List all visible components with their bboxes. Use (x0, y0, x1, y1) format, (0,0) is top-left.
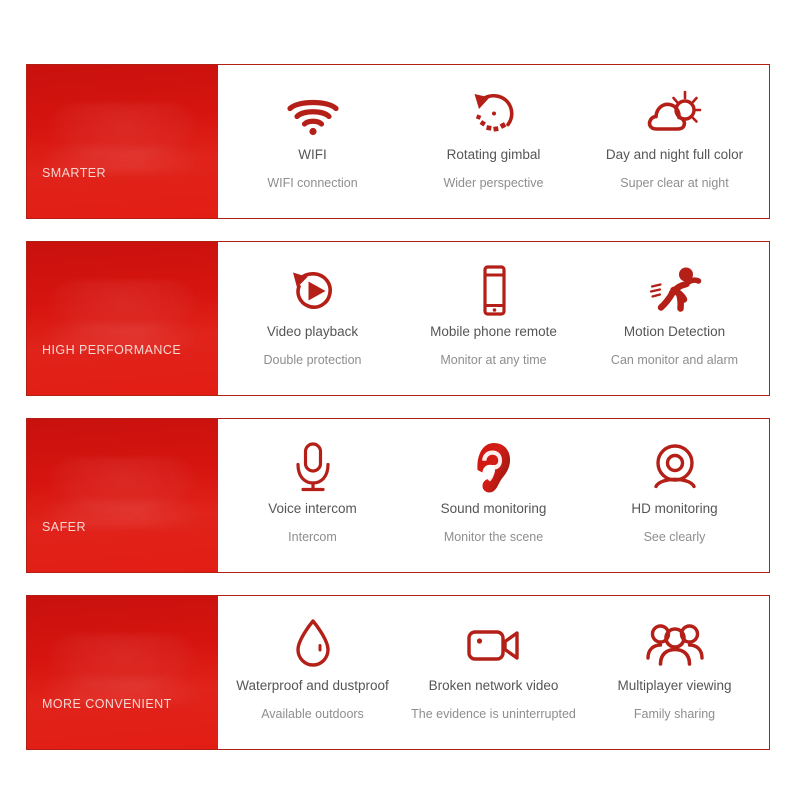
feature-item[interactable]: Sound monitoring Monitor the scene (403, 419, 584, 572)
banner-label: SAFER (27, 520, 218, 572)
feature-card: SMARTER WIFI WIFI connection (26, 64, 770, 219)
card-banner: MORE CONVENIENT (27, 596, 218, 749)
feature-subtitle: Monitor the scene (444, 530, 543, 545)
rotating-gimbal-icon (467, 85, 521, 143)
feature-title: HD monitoring (631, 501, 717, 517)
feature-title: Multiplayer viewing (617, 678, 731, 694)
video-playback-icon (287, 262, 339, 320)
feature-subtitle: WIFI connection (267, 176, 357, 191)
group-people-icon (644, 616, 706, 674)
feature-item[interactable]: Day and night full color Super clear at … (584, 65, 765, 218)
feature-subtitle: The evidence is uninterrupted (411, 707, 576, 722)
motion-detection-icon (646, 262, 704, 320)
banner-label: HIGH PERFORMANCE (27, 343, 218, 395)
feature-title: Voice intercom (268, 501, 357, 517)
feature-subtitle: Wider perspective (443, 176, 543, 191)
video-camera-icon (465, 616, 523, 674)
feature-subtitle: Can monitor and alarm (611, 353, 738, 368)
feature-subtitle: Super clear at night (620, 176, 728, 191)
feature-item[interactable]: WIFI WIFI connection (222, 65, 403, 218)
feature-title: Mobile phone remote (430, 324, 557, 340)
wifi-icon (284, 85, 342, 143)
feature-subtitle: See clearly (644, 530, 706, 545)
card-features: WIFI WIFI connection Rota (218, 65, 769, 218)
card-banner: HIGH PERFORMANCE (27, 242, 218, 395)
card-banner: SAFER (27, 419, 218, 572)
microphone-icon (290, 439, 336, 497)
feature-card: HIGH PERFORMANCE Video playback Double p… (26, 241, 770, 396)
feature-subtitle: Double protection (264, 353, 362, 368)
feature-card: MORE CONVENIENT Waterproof and dustproof… (26, 595, 770, 750)
feature-title: Rotating gimbal (447, 147, 541, 163)
feature-title: Broken network video (429, 678, 559, 694)
feature-title: Waterproof and dustproof (236, 678, 389, 694)
feature-title: Sound monitoring (441, 501, 547, 517)
card-features: Video playback Double protection Mobile … (218, 242, 769, 395)
feature-title: Motion Detection (624, 324, 725, 340)
feature-title: Day and night full color (606, 147, 743, 163)
feature-item[interactable]: Motion Detection Can monitor and alarm (584, 242, 765, 395)
water-drop-icon (291, 616, 335, 674)
feature-grid-page: SMARTER WIFI WIFI connection (0, 0, 800, 800)
feature-card: SAFER Voice intercom Intercom (26, 418, 770, 573)
card-features: Waterproof and dustproof Available outdo… (218, 596, 769, 749)
feature-item[interactable]: Multiplayer viewing Family sharing (584, 596, 765, 749)
feature-item[interactable]: Rotating gimbal Wider perspective (403, 65, 584, 218)
day-night-icon (644, 85, 706, 143)
card-banner: SMARTER (27, 65, 218, 218)
feature-item[interactable]: HD monitoring See clearly (584, 419, 765, 572)
banner-label: MORE CONVENIENT (27, 697, 218, 749)
feature-item[interactable]: Voice intercom Intercom (222, 419, 403, 572)
feature-title: Video playback (267, 324, 358, 340)
feature-subtitle: Monitor at any time (440, 353, 546, 368)
feature-item[interactable]: Waterproof and dustproof Available outdo… (222, 596, 403, 749)
feature-item[interactable]: Mobile phone remote Monitor at any time (403, 242, 584, 395)
feature-subtitle: Family sharing (634, 707, 715, 722)
ear-icon (472, 439, 516, 497)
webcam-icon (648, 439, 702, 497)
mobile-phone-icon (476, 262, 512, 320)
feature-title: WIFI (298, 147, 327, 163)
feature-subtitle: Available outdoors (261, 707, 364, 722)
card-features: Voice intercom Intercom (218, 419, 769, 572)
feature-subtitle: Intercom (288, 530, 337, 545)
banner-label: SMARTER (27, 166, 218, 218)
feature-item[interactable]: Broken network video The evidence is uni… (403, 596, 584, 749)
feature-item[interactable]: Video playback Double protection (222, 242, 403, 395)
